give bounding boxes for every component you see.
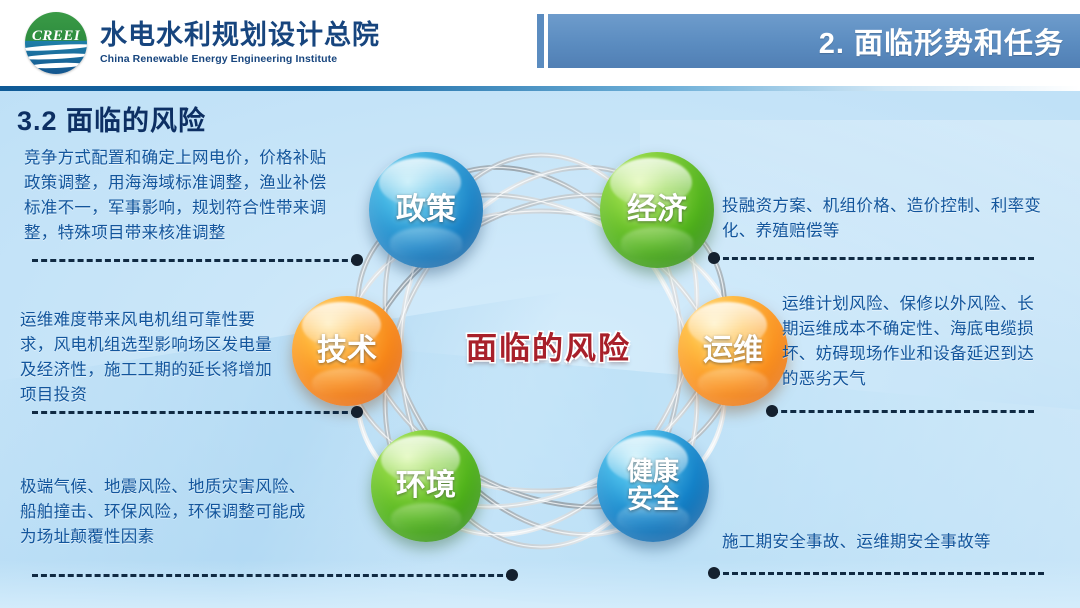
connector-endpoint-dot bbox=[351, 406, 363, 418]
note-technology: 运维难度带来风电机组可靠性要求，风电机组选型影响场区发电量及经济性，施工工期的延… bbox=[20, 308, 278, 408]
creei-logo-icon: CREEI bbox=[25, 12, 87, 74]
connector-dash bbox=[32, 411, 357, 414]
connector-endpoint-dot bbox=[766, 405, 778, 417]
node-label-technology: 技术 bbox=[317, 335, 377, 367]
brand-name-en: China Renewable Energy Engineering Insti… bbox=[100, 53, 380, 65]
node-label-health-safety-line2: 安全 bbox=[627, 484, 679, 514]
logo-mark-text: CREEI bbox=[25, 28, 87, 45]
connector-dash bbox=[714, 572, 1044, 575]
connector-dash bbox=[32, 259, 357, 262]
node-label-policy: 政策 bbox=[396, 194, 456, 226]
page-title: 3.2 面临的风险 bbox=[17, 99, 206, 138]
header-title: 2. 面临形势和任务 bbox=[819, 20, 1080, 62]
diagram-center-label: 面临的风险 bbox=[466, 323, 631, 368]
connector-endpoint-dot bbox=[351, 254, 363, 266]
node-label-economy: 经济 bbox=[627, 194, 687, 226]
node-sphere-environment[interactable]: 环境 bbox=[371, 430, 481, 542]
logo-wave-icon bbox=[29, 62, 84, 69]
note-environment: 极端气候、地震风险、地质灾害风险、船舶撞击、环保风险，环保调整可能成为场址颠覆性… bbox=[20, 475, 320, 550]
connector-endpoint-dot bbox=[506, 569, 518, 581]
node-sphere-policy[interactable]: 政策 bbox=[369, 152, 483, 268]
sphere-reflection bbox=[698, 368, 768, 397]
connector-endpoint-dot bbox=[708, 567, 720, 579]
node-sphere-operations[interactable]: 运维 bbox=[678, 296, 788, 406]
connector-dash bbox=[714, 257, 1034, 260]
note-health-safety: 施工期安全事故、运维期安全事故等 bbox=[722, 530, 1022, 555]
note-operations: 运维计划风险、保修以外风险、长期运维成本不确定性、海底电缆损坏、妨碍现场作业和设… bbox=[782, 292, 1042, 392]
node-label-environment: 环境 bbox=[396, 470, 456, 502]
header-divider-rule bbox=[0, 86, 1080, 91]
brand-name-block: 水电水利规划设计总院 China Renewable Energy Engine… bbox=[100, 21, 380, 65]
node-sphere-economy[interactable]: 经济 bbox=[600, 152, 714, 268]
header-banner: 2. 面临形势和任务 bbox=[537, 14, 1080, 68]
connector-dash bbox=[772, 410, 1034, 413]
connector-endpoint-dot bbox=[708, 252, 720, 264]
connector-dash bbox=[32, 574, 512, 577]
node-sphere-technology[interactable]: 技术 bbox=[292, 296, 402, 406]
node-label-health-safety: 健康 安全 bbox=[627, 458, 679, 513]
slide-root: CREEI 水电水利规划设计总院 China Renewable Energy … bbox=[0, 0, 1080, 608]
sphere-reflection bbox=[312, 368, 382, 397]
node-label-health-safety-line1: 健康 bbox=[627, 456, 679, 486]
note-policy: 竞争方式配置和确定上网电价，价格补贴政策调整，用海海域标准调整，渔业补偿标准不一… bbox=[24, 146, 336, 246]
sphere-reflection bbox=[391, 503, 461, 532]
brand-name-cn: 水电水利规划设计总院 bbox=[100, 21, 380, 51]
slide-header: CREEI 水电水利规划设计总院 China Renewable Energy … bbox=[0, 0, 1080, 90]
brand-logo: CREEI 水电水利规划设计总院 China Renewable Energy … bbox=[25, 12, 380, 74]
logo-wave-icon bbox=[25, 52, 87, 60]
sphere-reflection bbox=[621, 227, 694, 257]
node-label-operations: 运维 bbox=[703, 335, 763, 367]
node-sphere-health-safety[interactable]: 健康 安全 bbox=[597, 430, 709, 542]
sphere-reflection bbox=[390, 227, 463, 257]
header-accent-bar bbox=[537, 14, 544, 68]
note-economy: 投融资方案、机组价格、造价控制、利率变化、养殖赔偿等 bbox=[722, 194, 1052, 244]
